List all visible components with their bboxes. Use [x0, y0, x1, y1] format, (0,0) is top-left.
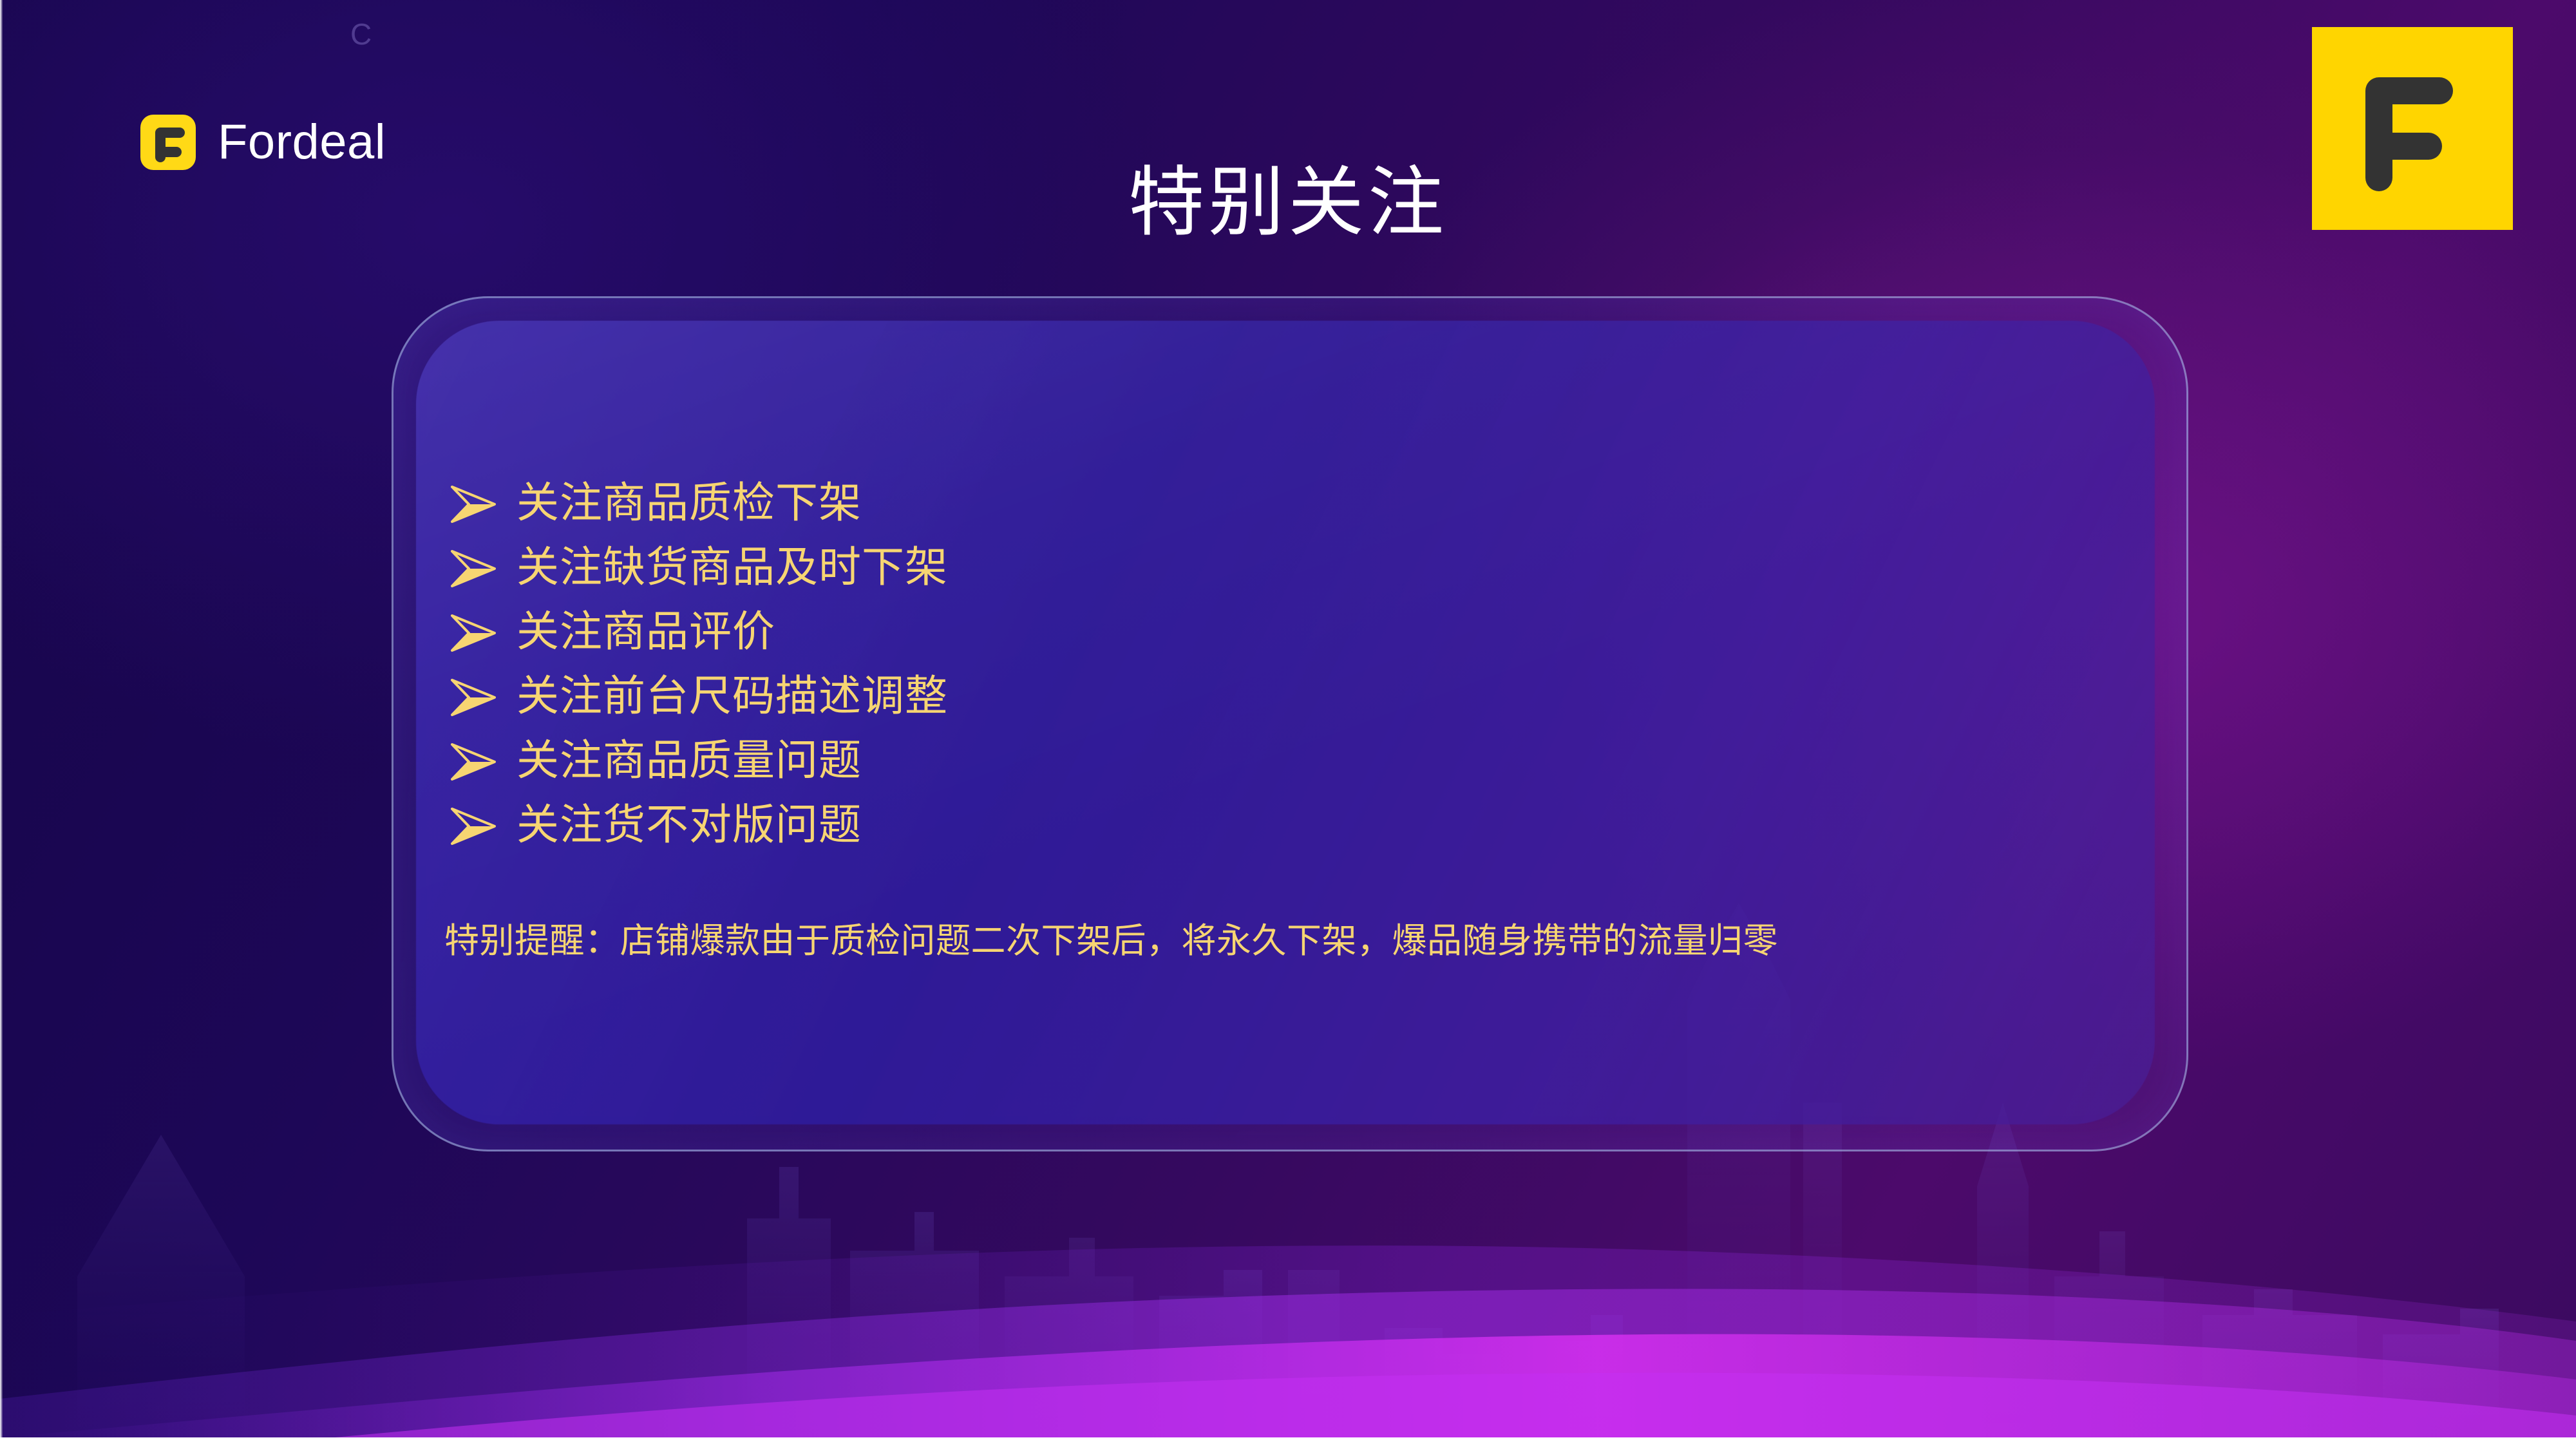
slide-canvas: Fordeal C 特别关注 关注商品质检下架: [0, 0, 2576, 1437]
fordeal-logo: Fordeal: [140, 115, 386, 170]
list-item-label: 关注前台尺码描述调整: [516, 663, 948, 728]
list-item: 关注商品评价: [444, 599, 2132, 663]
list-item: 关注货不对版问题: [444, 792, 2132, 857]
list-item: 关注商品质检下架: [444, 470, 2132, 535]
fordeal-f-badge-icon: [2312, 27, 2513, 230]
arrow-bullet-icon: [444, 599, 516, 663]
arrow-bullet-icon: [444, 470, 516, 535]
trademark-mark: C: [350, 19, 372, 49]
list-item-label: 关注商品评价: [516, 599, 775, 663]
list-item: 关注前台尺码描述调整: [444, 663, 2132, 728]
slide-bottom-margin: [0, 1437, 2576, 1449]
list-item-label: 关注缺货商品及时下架: [516, 535, 948, 599]
arrow-bullet-icon: [444, 728, 516, 792]
slide-left-edge: [0, 0, 3, 1437]
card-content: 关注商品质检下架 关注缺货商品及时下架 关注: [444, 470, 2132, 963]
list-item: 关注商品质量问题: [444, 728, 2132, 792]
fordeal-wordmark: Fordeal: [218, 118, 386, 167]
list-item-label: 关注货不对版问题: [516, 792, 862, 857]
list-item-label: 关注商品质检下架: [516, 470, 862, 535]
fordeal-f-logo-icon: [140, 115, 196, 170]
page-title: 特别关注: [0, 160, 2576, 247]
arrow-bullet-icon: [444, 792, 516, 857]
list-item-label: 关注商品质量问题: [516, 728, 862, 792]
focus-points-list: 关注商品质检下架 关注缺货商品及时下架 关注: [444, 470, 2132, 857]
special-reminder-note: 特别提醒：店铺爆款由于质检问题二次下架后，将永久下架，爆品随身携带的流量归零: [444, 918, 2132, 963]
arrow-bullet-icon: [444, 663, 516, 728]
list-item: 关注缺货商品及时下架: [444, 535, 2132, 599]
arrow-bullet-icon: [444, 535, 516, 599]
